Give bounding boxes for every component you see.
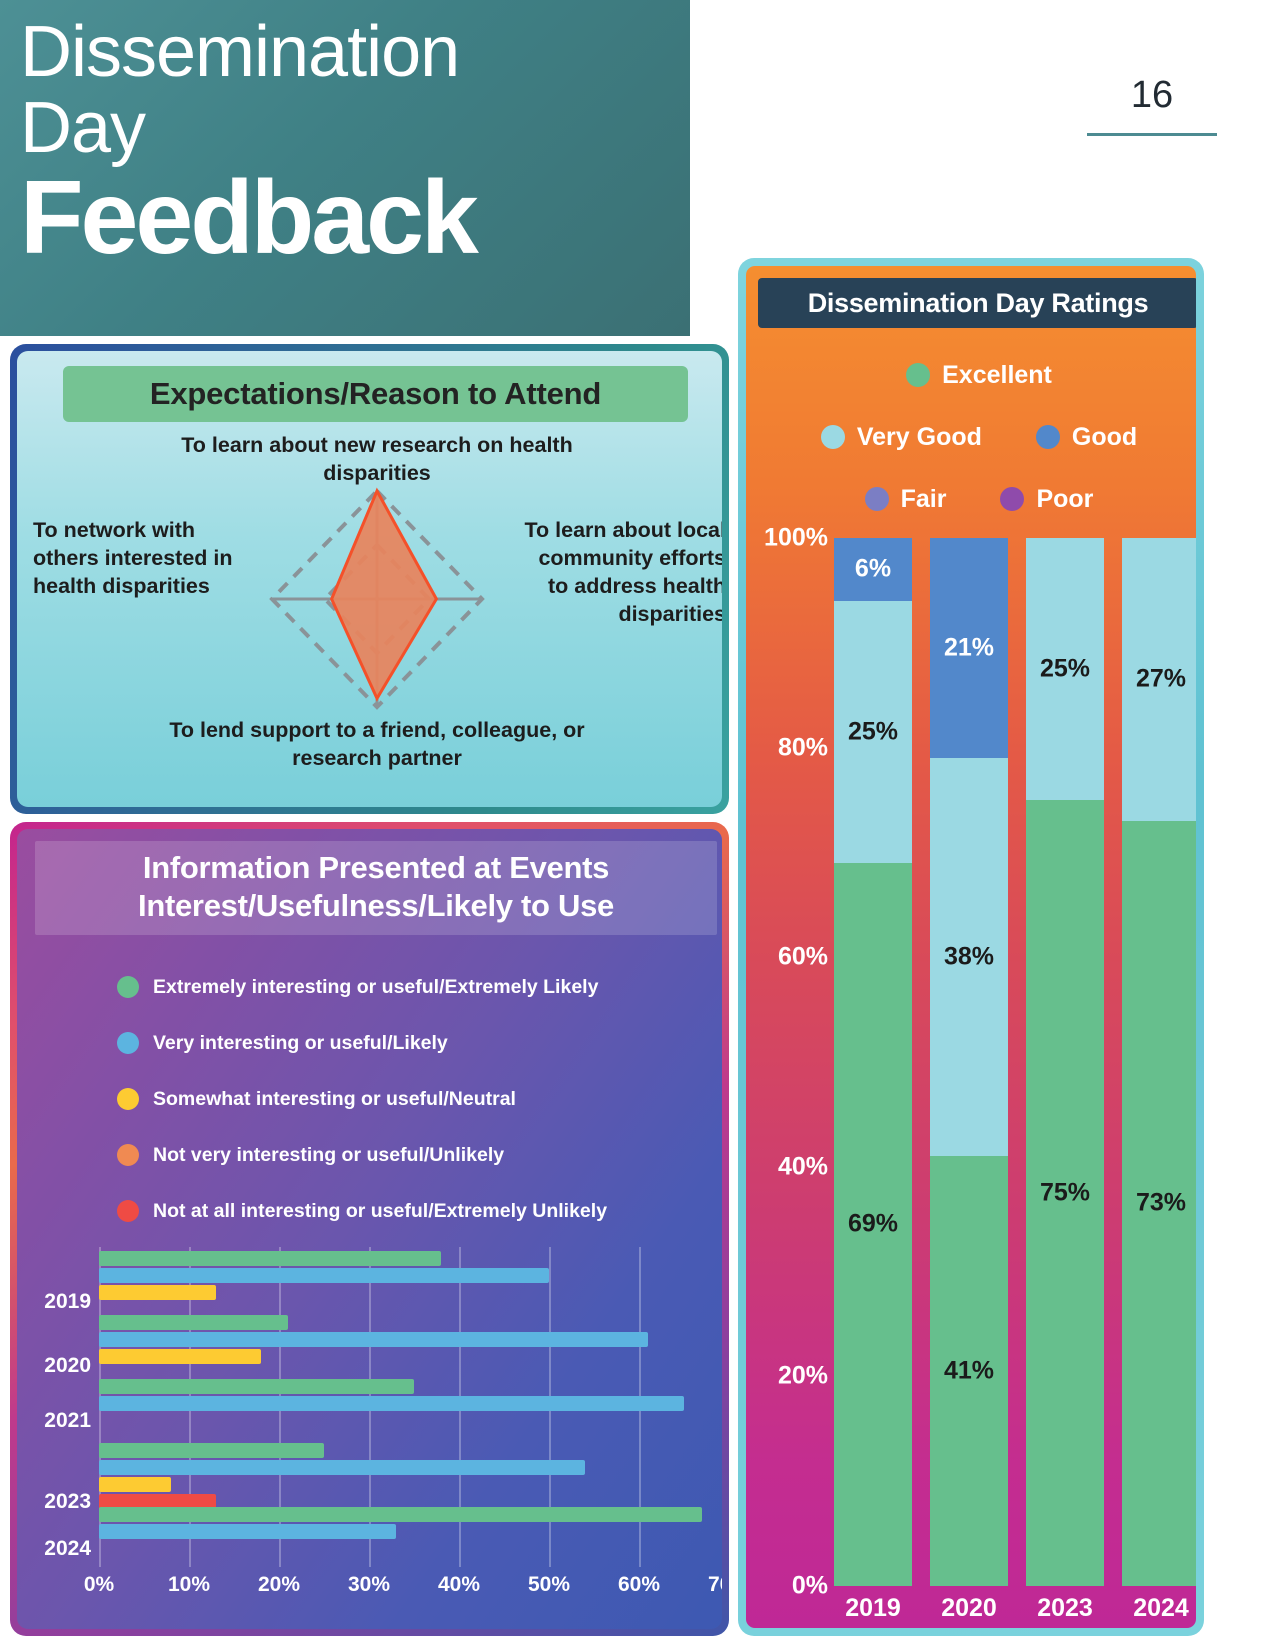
horizontal-bar-chart: 20192020202120232024 0%10%20%30%40%50%60… <box>17 1239 722 1629</box>
stacked-segment-excellent: 69% <box>834 863 912 1586</box>
category-label-2019: 2019 <box>19 1290 91 1314</box>
axis-tick-label: 20% <box>746 1362 828 1391</box>
legend-label: Not at all interesting or useful/Extreme… <box>153 1200 607 1223</box>
legend-item: Very Good <box>821 423 982 452</box>
legend-swatch-icon <box>821 425 845 449</box>
ratings-title: Dissemination Day Ratings <box>758 278 1196 328</box>
legend-label: Poor <box>1036 485 1093 514</box>
legend-label: Very Good <box>857 423 982 452</box>
radar-plot-svg <box>262 479 492 719</box>
header-line-3: Feedback <box>20 162 670 274</box>
axis-tick-label: 60% <box>746 943 828 972</box>
ratings-legend-row: Fair Poor <box>746 468 1196 530</box>
axis-tick-label: 0% <box>84 1573 114 1597</box>
page-number-block: 16 <box>1087 74 1217 136</box>
stacked-segment-good: 21% <box>930 538 1008 758</box>
legend-label: Good <box>1072 423 1137 452</box>
ratings-legend-row: Excellent <box>746 344 1196 406</box>
axis-category-label-2024: 2024 <box>1122 1594 1196 1623</box>
axis-category-label-2019: 2019 <box>834 1594 912 1623</box>
stacked-segment-very-good: 25% <box>834 601 912 863</box>
legend-item: Fair <box>865 485 947 514</box>
radar-axis-label-left: To network with others interested in hea… <box>33 516 258 600</box>
legend-label: Fair <box>901 485 947 514</box>
axis-category-label-2020: 2020 <box>930 1594 1008 1623</box>
ratings-legend: Excellent Very Good Good Fair <box>746 344 1196 530</box>
legend-swatch-icon <box>1000 487 1024 511</box>
stacked-segment-very-good: 27% <box>1122 538 1196 821</box>
axis-tick-label: 30% <box>348 1573 390 1597</box>
radar-axis-label-bottom: To lend support to a friend, colleague, … <box>157 716 597 772</box>
stacked-bar-plot-area: 6%25%69%201921%38%41%202025%75%202327%73… <box>834 538 1196 1586</box>
segment-value-label: 21% <box>930 634 1008 663</box>
legend-label: Excellent <box>942 361 1052 390</box>
horizontal-bar <box>99 1268 549 1283</box>
information-title: Information Presented at Events Interest… <box>35 841 717 935</box>
horizontal-bar <box>99 1379 414 1394</box>
segment-value-label: 25% <box>834 717 912 746</box>
header-line-2: Day <box>20 90 670 166</box>
legend-item: Somewhat interesting or useful/Neutral <box>117 1071 717 1127</box>
header-line-1: Dissemination <box>20 14 670 90</box>
axis-tick-label: 50% <box>528 1573 570 1597</box>
expectations-title: Expectations/Reason to Attend <box>63 366 688 422</box>
information-panel: Information Presented at Events Interest… <box>10 822 729 1636</box>
horizontal-bar <box>99 1524 396 1539</box>
stacked-bar-column-2020: 21%38%41% <box>930 538 1008 1586</box>
category-label-2021: 2021 <box>19 1409 91 1433</box>
expectations-panel: Expectations/Reason to Attend To learn a… <box>10 344 729 814</box>
segment-value-label: 27% <box>1122 665 1196 694</box>
axis-tick-label: 80% <box>746 733 828 762</box>
legend-item: Excellent <box>906 361 1052 390</box>
legend-label: Not very interesting or useful/Unlikely <box>153 1144 504 1167</box>
stacked-segment-excellent: 75% <box>1026 800 1104 1586</box>
legend-swatch-icon <box>906 363 930 387</box>
legend-item: Very interesting or useful/Likely <box>117 1015 717 1071</box>
legend-swatch-icon <box>865 487 889 511</box>
axis-tick-label: 20% <box>258 1573 300 1597</box>
page-number-rule <box>1087 133 1217 136</box>
information-legend: Extremely interesting or useful/Extremel… <box>117 959 717 1239</box>
horizontal-bar <box>99 1396 684 1411</box>
legend-item: Not very interesting or useful/Unlikely <box>117 1127 717 1183</box>
legend-swatch-icon <box>117 1088 139 1110</box>
legend-label: Somewhat interesting or useful/Neutral <box>153 1088 516 1111</box>
horizontal-bar <box>99 1332 648 1347</box>
category-label-2024: 2024 <box>19 1537 91 1561</box>
page-number: 16 <box>1087 74 1217 117</box>
horizontal-bar <box>99 1315 288 1330</box>
axis-tick-label: 40% <box>746 1152 828 1181</box>
legend-item: Extremely interesting or useful/Extremel… <box>117 959 717 1015</box>
axis-tick-label: 40% <box>438 1573 480 1597</box>
legend-label: Extremely interesting or useful/Extremel… <box>153 976 598 999</box>
legend-swatch-icon <box>117 1032 139 1054</box>
segment-value-label: 38% <box>930 943 1008 972</box>
category-label-2023: 2023 <box>19 1490 91 1514</box>
ratings-legend-row: Very Good Good <box>746 406 1196 468</box>
horizontal-bar <box>99 1460 585 1475</box>
legend-swatch-icon <box>117 976 139 998</box>
ratings-panel: Dissemination Day Ratings Excellent Very… <box>738 258 1204 1636</box>
stacked-segment-very-good: 38% <box>930 758 1008 1156</box>
stacked-segment-very-good: 25% <box>1026 538 1104 800</box>
axis-category-label-2023: 2023 <box>1026 1594 1104 1623</box>
stacked-segment-good: 6% <box>834 538 912 601</box>
stacked-bar-column-2019: 6%25%69% <box>834 538 912 1586</box>
legend-item: Not at all interesting or useful/Extreme… <box>117 1183 717 1239</box>
segment-value-label: 73% <box>1122 1189 1196 1218</box>
legend-swatch-icon <box>1036 425 1060 449</box>
legend-swatch-icon <box>117 1144 139 1166</box>
axis-tick-label: 100% <box>746 524 828 553</box>
segment-value-label: 25% <box>1026 655 1104 684</box>
segment-value-label: 6% <box>834 555 912 584</box>
segment-value-label: 41% <box>930 1357 1008 1386</box>
stacked-bar-column-2024: 27%73% <box>1122 538 1196 1586</box>
axis-tick-label: 60% <box>618 1573 660 1597</box>
radar-axis-label-right: To learn about local community efforts t… <box>516 516 722 628</box>
stacked-bar-column-2023: 25%75% <box>1026 538 1104 1586</box>
axis-tick-label: 0% <box>746 1572 828 1601</box>
segment-value-label: 75% <box>1026 1179 1104 1208</box>
information-title-line-2: Interest/Usefulness/Likely to Use <box>47 887 705 925</box>
segment-value-label: 69% <box>834 1210 912 1239</box>
horizontal-bar <box>99 1251 441 1266</box>
horizontal-bar <box>99 1443 324 1458</box>
stacked-segment-excellent: 73% <box>1122 821 1196 1586</box>
stacked-segment-excellent: 41% <box>930 1156 1008 1586</box>
legend-label: Very interesting or useful/Likely <box>153 1032 448 1055</box>
header-banner: Dissemination Day Feedback <box>0 0 690 336</box>
horizontal-bar <box>99 1349 261 1364</box>
axis-tick-label: 70% <box>708 1573 722 1597</box>
legend-item: Poor <box>1000 485 1093 514</box>
category-label-2020: 2020 <box>19 1354 91 1378</box>
legend-swatch-icon <box>117 1200 139 1222</box>
information-title-line-1: Information Presented at Events <box>47 849 705 887</box>
horizontal-bar <box>99 1507 702 1522</box>
horizontal-bar <box>99 1477 171 1492</box>
radar-chart: To learn about new research on health di… <box>17 421 722 807</box>
axis-tick-label: 10% <box>168 1573 210 1597</box>
horizontal-bar <box>99 1285 216 1300</box>
legend-item: Good <box>1036 423 1137 452</box>
horizontal-bar-plot-area <box>99 1247 722 1567</box>
